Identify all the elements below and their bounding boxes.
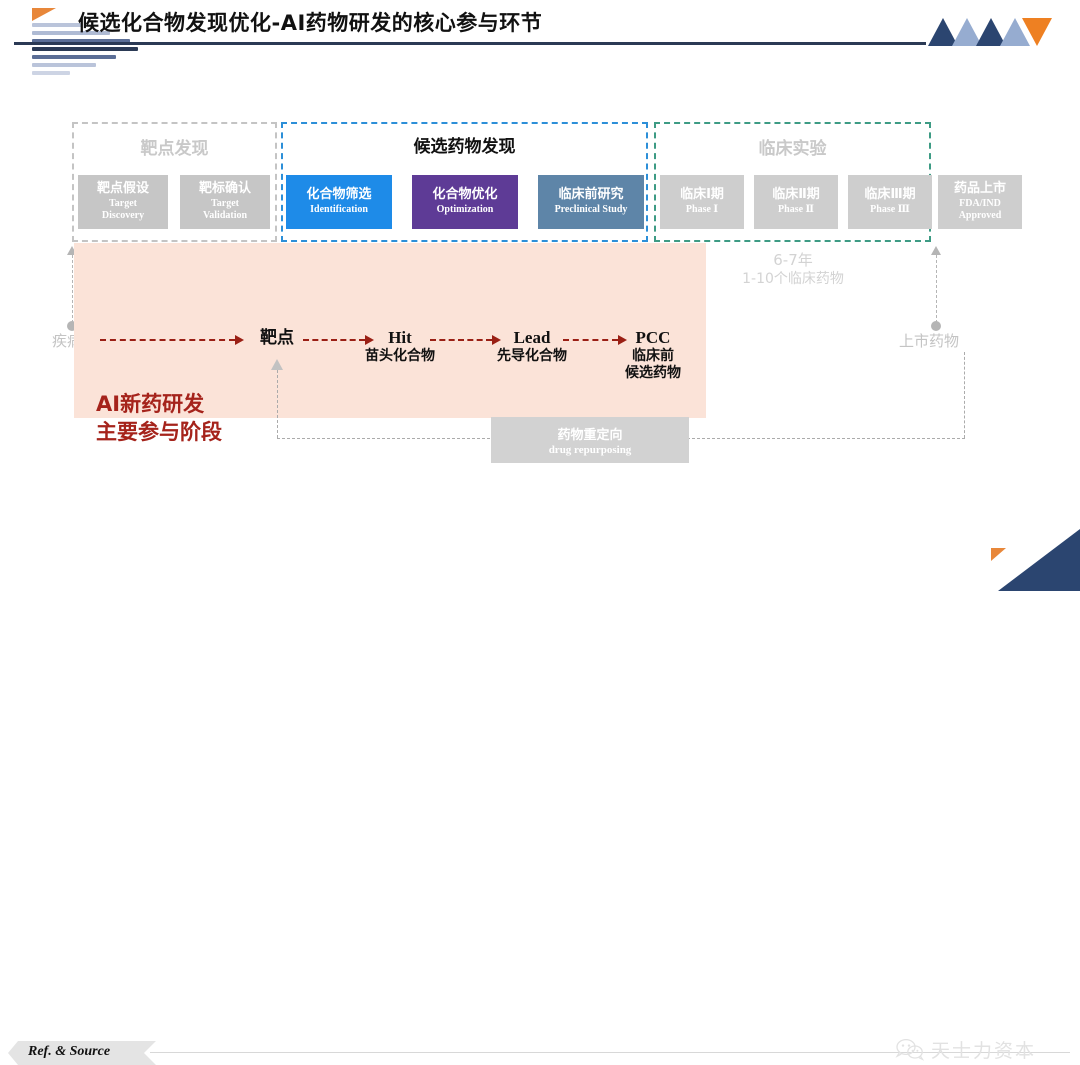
stage-label-cn: 靶点假设 xyxy=(97,182,149,197)
stage-phase-3[interactable]: 临床Ⅲ期 Phase Ⅲ xyxy=(848,175,932,229)
stage-label-cn: 临床前研究 xyxy=(558,188,623,203)
stage-label-en-1: Target xyxy=(109,198,137,210)
stage-label-en-1: Optimization xyxy=(437,204,494,216)
phase-title-clinical-trial: 临床实验 xyxy=(654,134,931,159)
flow-node-label-cn-1: 临床前 xyxy=(600,348,706,365)
ai-stage-label-line2: 主要参与阶段 xyxy=(96,419,222,447)
flow-arrow-head-icon xyxy=(235,335,244,345)
flow-node-label-cn: 先导化合物 xyxy=(467,348,597,365)
label-marketed-drug: 上市药物 xyxy=(899,330,959,351)
stage-identification[interactable]: 化合物筛选 Identification xyxy=(286,175,392,229)
footer-navy-triangle-icon xyxy=(998,529,1080,591)
stage-label-en-1: Phase Ⅰ xyxy=(686,204,718,216)
repurposing-loop-vertical xyxy=(277,370,278,438)
flow-node-label: 靶点 xyxy=(251,328,303,348)
stage-preclinical-study[interactable]: 临床前研究 Preclinical Study xyxy=(538,175,644,229)
tick-arrow-icon xyxy=(931,246,941,255)
stage-label-cn: 靶标确认 xyxy=(199,182,251,197)
title-underline xyxy=(14,42,926,45)
page-title: 候选化合物发现优化-AI药物研发的核心参与环节 xyxy=(78,7,542,37)
stage-label-en-1: Target xyxy=(211,198,239,210)
drug-repurposing-label-cn: 药物重定向 xyxy=(557,424,622,443)
stage-label-en-1: FDA/IND xyxy=(959,198,1001,210)
phase-title-candidate-discovery: 候选药物发现 xyxy=(281,132,648,157)
stage-label-cn: 药品上市 xyxy=(954,182,1006,197)
stage-target-validation[interactable]: 靶标确认 Target Validation xyxy=(180,175,270,229)
flow-node-lead: Lead 先导化合物 xyxy=(467,328,597,365)
ref-source-label: Ref. & Source xyxy=(28,1044,110,1060)
stage-label-cn: 化合物筛选 xyxy=(306,188,371,203)
ai-stage-label: AI新药研发 主要参与阶段 xyxy=(96,391,222,446)
wechat-icon xyxy=(894,1038,924,1062)
stage-label-en-1: Phase Ⅲ xyxy=(870,204,910,216)
flow-node-hit: Hit 苗头化合物 xyxy=(335,328,465,365)
stage-phase-2[interactable]: 临床Ⅱ期 Phase Ⅱ xyxy=(754,175,838,229)
header-triangle-group xyxy=(928,18,1052,46)
flow-node-target: 靶点 xyxy=(251,328,303,348)
repurposing-loop-arrow-icon xyxy=(271,359,283,370)
stage-label-en-1: Identification xyxy=(310,204,368,216)
triangle-5-icon xyxy=(1022,18,1052,46)
flow-node-label-en: Hit xyxy=(335,328,465,348)
page-header: 候选化合物发现优化-AI药物研发的核心参与环节 xyxy=(0,0,1080,80)
stage-label-en-1: Phase Ⅱ xyxy=(778,204,814,216)
stage-label-cn: 化合物优化 xyxy=(432,188,497,203)
stage-label-en-2: Discovery xyxy=(102,210,144,222)
repurposing-loop-right-vertical xyxy=(964,352,965,438)
flow-node-label-en: Lead xyxy=(467,328,597,348)
drug-repurposing-box[interactable]: 药物重定向 drug repurposing xyxy=(491,417,689,463)
brand-name: 天士力资本 xyxy=(931,1036,1036,1063)
stage-label-cn: 临床Ⅱ期 xyxy=(772,188,820,203)
stage-label-en-2: Validation xyxy=(203,210,247,222)
page-footer: Ref. & Source 天士力资本 xyxy=(0,510,1080,591)
stage-target-discovery[interactable]: 靶点假设 Target Discovery xyxy=(78,175,168,229)
stage-label-en-2: Approved xyxy=(959,210,1002,222)
flow-node-pcc: PCC 临床前 候选药物 xyxy=(600,328,706,382)
drug-repurposing-label-en: drug repurposing xyxy=(549,444,632,456)
ai-stage-label-line1: AI新药研发 xyxy=(96,391,222,419)
stage-optimization[interactable]: 化合物优化 Optimization xyxy=(412,175,518,229)
stage-label-cn: 临床Ⅰ期 xyxy=(680,188,724,203)
stage-phase-1[interactable]: 临床Ⅰ期 Phase Ⅰ xyxy=(660,175,744,229)
stage-label-cn: 临床Ⅲ期 xyxy=(864,188,915,203)
stage-drug-approval[interactable]: 药品上市 FDA/IND Approved xyxy=(938,175,1022,229)
phase-title-target-discovery: 靶点发现 xyxy=(72,134,277,159)
flow-node-label-cn: 苗头化合物 xyxy=(335,348,465,365)
brand-block: 天士力资本 xyxy=(894,1036,1036,1063)
stage-label-en-1: Preclinical Study xyxy=(555,204,628,216)
flow-node-label-cn-2: 候选药物 xyxy=(600,365,706,382)
header-orange-triangle-icon xyxy=(32,8,56,21)
flow-arrow-disease-to-target xyxy=(100,339,235,341)
flow-node-label-en: PCC xyxy=(600,328,706,348)
